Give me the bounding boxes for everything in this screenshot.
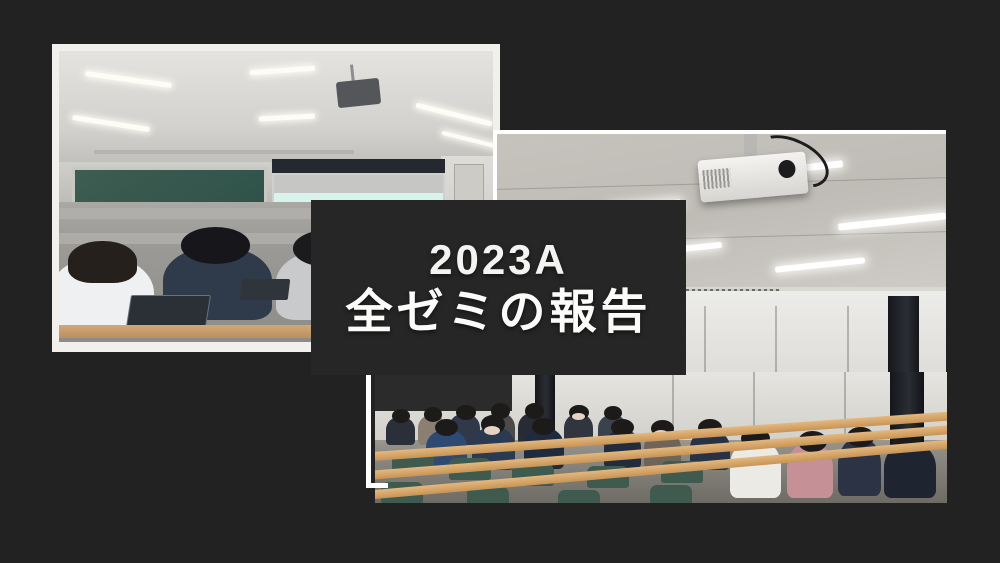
projector-vent: [703, 168, 733, 190]
dark-curtain: [888, 296, 919, 380]
student-head: [456, 405, 475, 421]
student-head: [181, 227, 250, 263]
students-at-desks-photo: [375, 372, 947, 503]
presentation-slide: 2023A 全ゼミの報告: [0, 0, 1000, 563]
ceiling-projector: [336, 78, 382, 109]
slide-title: 全ゼミの報告: [346, 286, 652, 338]
laptop: [240, 279, 290, 300]
wall-seam: [844, 372, 846, 440]
photo-three-scene: [375, 372, 947, 503]
student-head: [435, 419, 458, 436]
ceiling-rail: [94, 150, 354, 154]
wall-seam: [847, 306, 849, 380]
student-head: [532, 418, 555, 435]
projector-lens: [777, 159, 796, 179]
green-chair: [650, 485, 692, 503]
face-mask-icon: [484, 426, 500, 435]
student-head: [68, 241, 137, 283]
wall-seam: [704, 306, 706, 380]
photo-three-white-frame: [366, 375, 388, 488]
title-card: 2023A 全ゼミの報告: [311, 200, 686, 375]
slide-term-label: 2023A: [429, 238, 568, 282]
projector-screen-case: [272, 159, 446, 174]
slide-top-band: [274, 175, 444, 193]
wall-seam: [775, 306, 777, 380]
green-chair: [558, 490, 600, 503]
